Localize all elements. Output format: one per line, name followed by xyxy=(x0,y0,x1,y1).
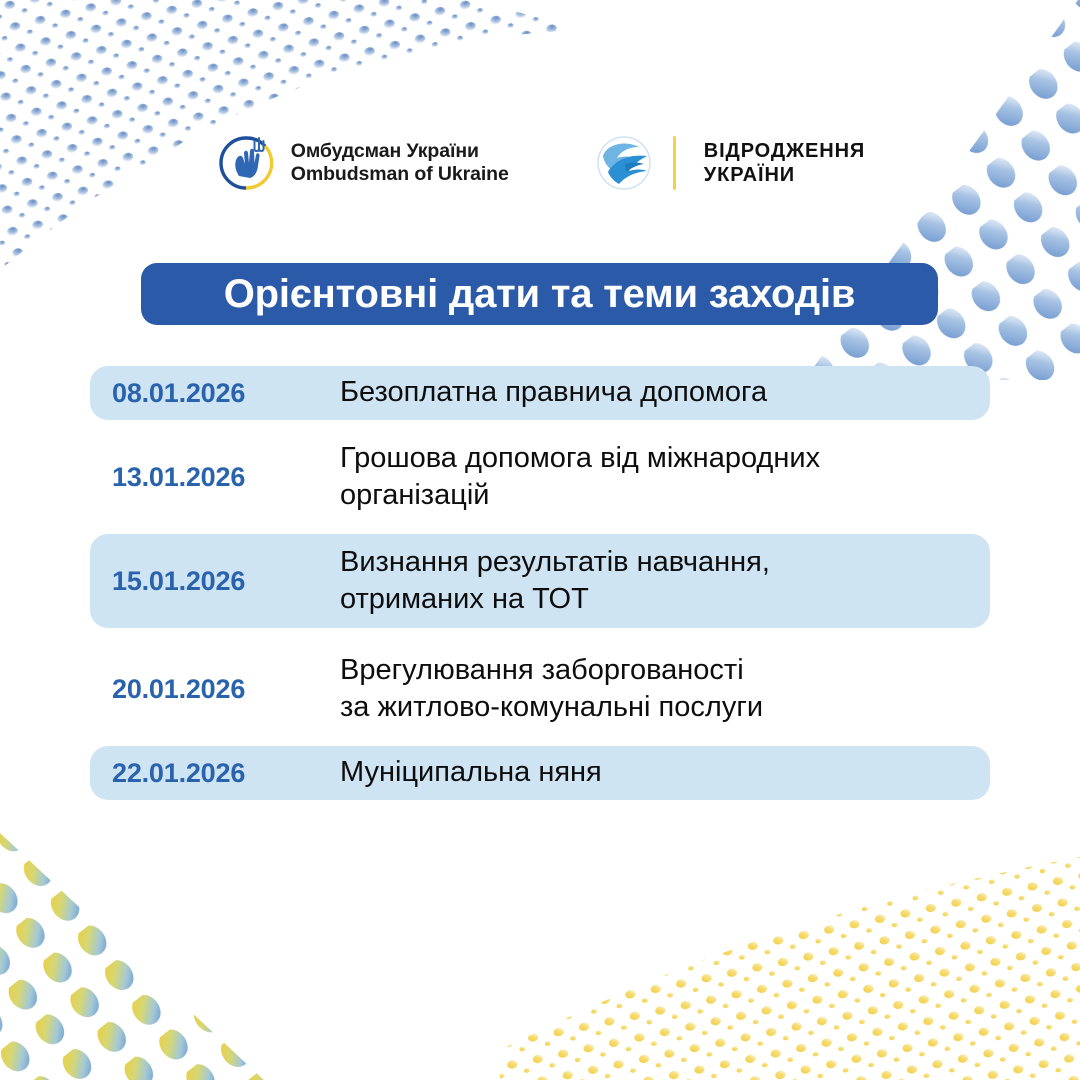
revival-bird-icon xyxy=(595,134,653,192)
ombudsman-logo: Омбудсман України Ombudsman of Ukraine xyxy=(215,132,509,194)
event-date: 08.01.2026 xyxy=(112,378,340,409)
event-topic: Муніципальна няня xyxy=(340,754,968,791)
row-gap xyxy=(90,628,990,642)
row-gap xyxy=(90,524,990,534)
table-row: 08.01.2026 Безоплатна правнича допомога xyxy=(90,366,990,420)
revival-logo: ВІДРОДЖЕННЯ УКРАЇНИ xyxy=(595,134,865,192)
page-title: Орієнтовні дати та теми заходів xyxy=(224,272,856,317)
event-topic: Визнання результатів навчання, отриманих… xyxy=(340,544,968,618)
revival-logo-text: ВІДРОДЖЕННЯ УКРАЇНИ xyxy=(704,139,865,187)
page-title-banner: Орієнтовні дати та теми заходів xyxy=(141,263,938,325)
ombudsman-title-en: Ombudsman of Ukraine xyxy=(291,163,509,186)
table-row: 20.01.2026 Врегулювання заборгованості з… xyxy=(90,642,990,736)
table-row: 15.01.2026 Визнання результатів навчання… xyxy=(90,534,990,628)
halftone-wave-top-left-icon xyxy=(0,0,560,390)
ombudsman-logo-text: Омбудсман України Ombudsman of Ukraine xyxy=(291,140,509,186)
event-topic: Безоплатна правнича допомога xyxy=(340,374,968,411)
event-date: 15.01.2026 xyxy=(112,566,340,597)
table-row: 13.01.2026 Грошова допомога від міжнарод… xyxy=(90,430,990,524)
table-row: 22.01.2026 Муніципальна няня xyxy=(90,746,990,800)
ombudsman-emblem-icon xyxy=(215,132,277,194)
event-date: 20.01.2026 xyxy=(112,674,340,705)
event-date: 22.01.2026 xyxy=(112,758,340,789)
poster-canvas: Омбудсман України Ombudsman of Ukraine В… xyxy=(0,0,1080,1080)
logo-row: Омбудсман України Ombudsman of Ukraine В… xyxy=(0,132,1080,194)
event-date: 13.01.2026 xyxy=(112,462,340,493)
revival-title-line1: ВІДРОДЖЕННЯ xyxy=(704,139,865,163)
row-gap xyxy=(90,420,990,430)
ombudsman-title-uk: Омбудсман України xyxy=(291,140,509,163)
revival-title-line2: УКРАЇНИ xyxy=(704,163,865,187)
halftone-wave-bottom-right-icon xyxy=(500,790,1080,1080)
event-topic: Врегулювання заборгованості за житлово-к… xyxy=(340,652,968,726)
logo-divider xyxy=(673,136,676,190)
row-gap xyxy=(90,736,990,746)
schedule-list: 08.01.2026 Безоплатна правнича допомога … xyxy=(90,366,990,800)
event-topic: Грошова допомога від міжнародних організ… xyxy=(340,440,968,514)
